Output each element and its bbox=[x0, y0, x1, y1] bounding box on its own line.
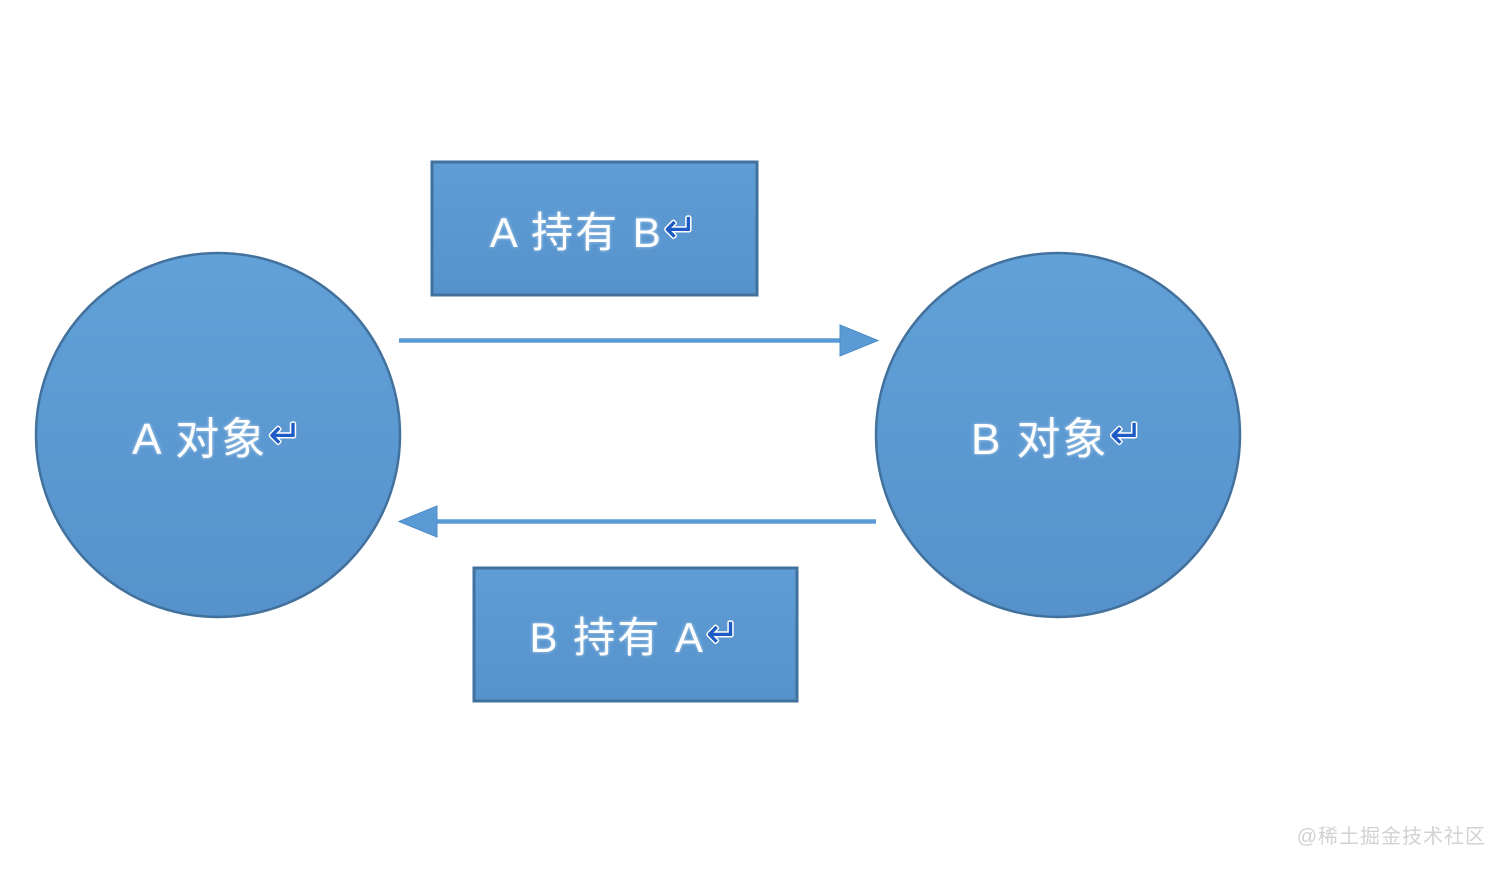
caption-box-a-holds-b[interactable] bbox=[432, 162, 757, 295]
arrow-a-to-b-head bbox=[840, 325, 878, 356]
caption-box-b-holds-a[interactable] bbox=[474, 568, 797, 701]
arrow-b-to-a-head bbox=[399, 506, 437, 537]
diagram-svg bbox=[0, 0, 1512, 871]
circle-a-object[interactable] bbox=[36, 253, 400, 617]
arrow-a-to-b[interactable] bbox=[399, 325, 878, 356]
diagram-canvas: A 对象↵ B 对象↵ A 持有 B↵ B 持有 A↵ @稀土掘金技术社区 bbox=[0, 0, 1512, 871]
watermark-text: @稀土掘金技术社区 bbox=[1297, 820, 1486, 849]
arrow-b-to-a[interactable] bbox=[399, 506, 876, 537]
circle-b-object[interactable] bbox=[876, 253, 1240, 617]
